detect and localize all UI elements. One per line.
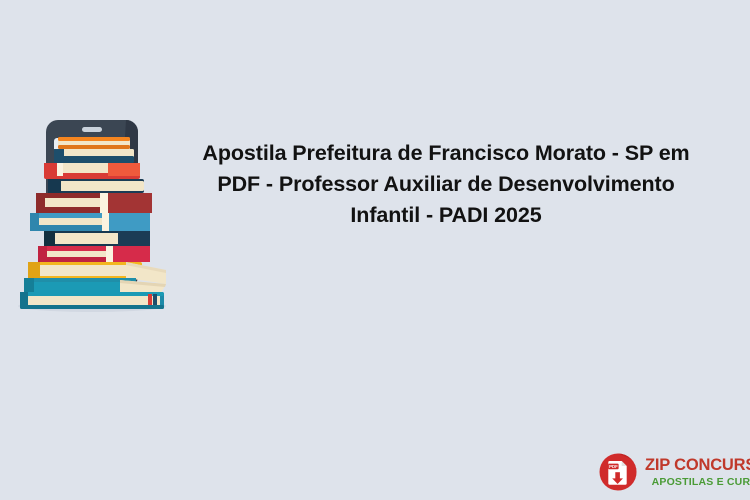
book-maroon (36, 193, 152, 213)
books-illustration (8, 118, 176, 316)
pdf-download-icon: PDF (598, 452, 638, 492)
title-line-1: Apostila Prefeitura de Francisco Morato … (176, 138, 716, 169)
book-lightblue-1 (30, 213, 150, 231)
zip-concursos-logo[interactable]: PDF ZIP CONCURSOS APOSTILAS E CURSOS (598, 450, 740, 494)
book-red-1 (44, 163, 140, 179)
logo-wordmark: ZIP CONCURSOS APOSTILAS E CURSOS (645, 457, 750, 487)
book-darkblue-1 (54, 149, 134, 163)
page-canvas: Apostila Prefeitura de Francisco Morato … (0, 0, 750, 500)
book-red-2 (38, 246, 150, 262)
title-line-2: PDF - Professor Auxiliar de Desenvolvime… (176, 169, 716, 200)
book-teal-base (20, 292, 164, 309)
logo-title: ZIP CONCURSOS (645, 457, 750, 474)
book-navy-2 (44, 231, 150, 246)
logo-subtitle: APOSTILAS E CURSOS (645, 477, 750, 488)
svg-text:PDF: PDF (609, 464, 618, 469)
title-line-3: Infantil - PADI 2025 (176, 200, 716, 231)
book-navy-1 (48, 179, 144, 193)
page-title: Apostila Prefeitura de Francisco Morato … (176, 138, 716, 231)
book-orange (58, 137, 130, 149)
